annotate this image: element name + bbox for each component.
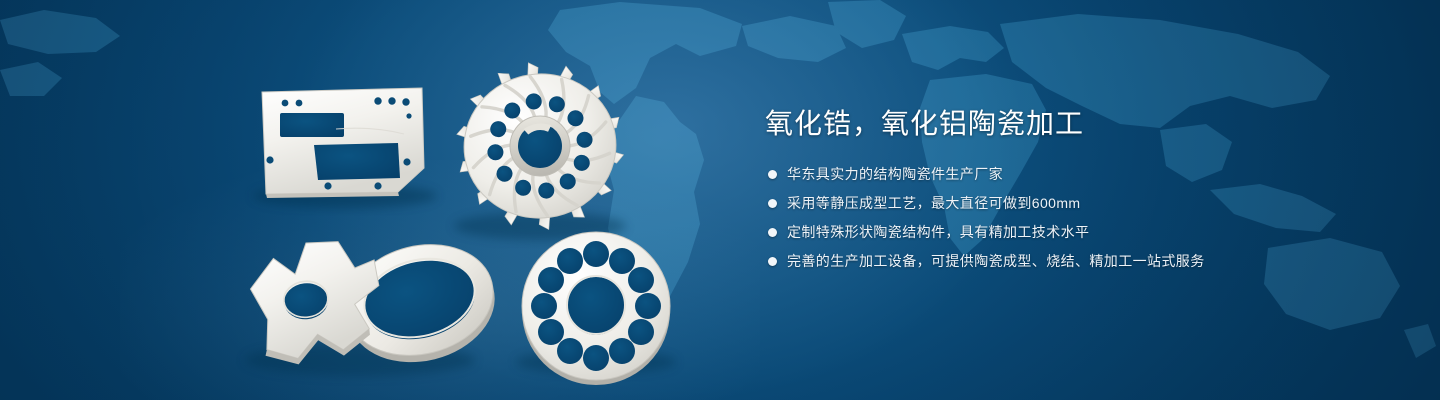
ceramic-impeller xyxy=(445,51,635,241)
feature-list: 华东具实力的结构陶瓷件生产厂家 采用等静压成型工艺，最大直径可做到600mm 定… xyxy=(765,164,1365,272)
feature-text: 采用等静压成型工艺，最大直径可做到600mm xyxy=(787,193,1080,214)
banner-headline: 氧化锆，氧化铝陶瓷加工 xyxy=(765,106,1365,142)
ceramic-flange-disc xyxy=(522,232,670,385)
banner-copy: 氧化锆，氧化铝陶瓷加工 华东具实力的结构陶瓷件生产厂家 采用等静压成型工艺，最大… xyxy=(765,106,1365,272)
bullet-dot-icon xyxy=(768,199,777,208)
bullet-dot-icon xyxy=(768,257,777,266)
feature-text: 华东具实力的结构陶瓷件生产厂家 xyxy=(787,164,1003,185)
list-item: 完善的生产加工设备，可提供陶瓷成型、烧结、精加工一站式服务 xyxy=(765,251,1365,272)
product-photo-group xyxy=(0,0,720,400)
bullet-dot-icon xyxy=(768,170,777,179)
list-item: 定制特殊形状陶瓷结构件，具有精加工技术水平 xyxy=(765,222,1365,243)
feature-text: 定制特殊形状陶瓷结构件，具有精加工技术水平 xyxy=(787,222,1089,243)
list-item: 采用等静压成型工艺，最大直径可做到600mm xyxy=(765,193,1365,214)
promo-banner: 氧化锆，氧化铝陶瓷加工 华东具实力的结构陶瓷件生产厂家 采用等静压成型工艺，最大… xyxy=(0,0,1440,400)
ceramic-flat-plate xyxy=(262,88,424,198)
bullet-dot-icon xyxy=(768,228,777,237)
feature-text: 完善的生产加工设备，可提供陶瓷成型、烧结、精加工一站式服务 xyxy=(787,251,1205,272)
list-item: 华东具实力的结构陶瓷件生产厂家 xyxy=(765,164,1365,185)
